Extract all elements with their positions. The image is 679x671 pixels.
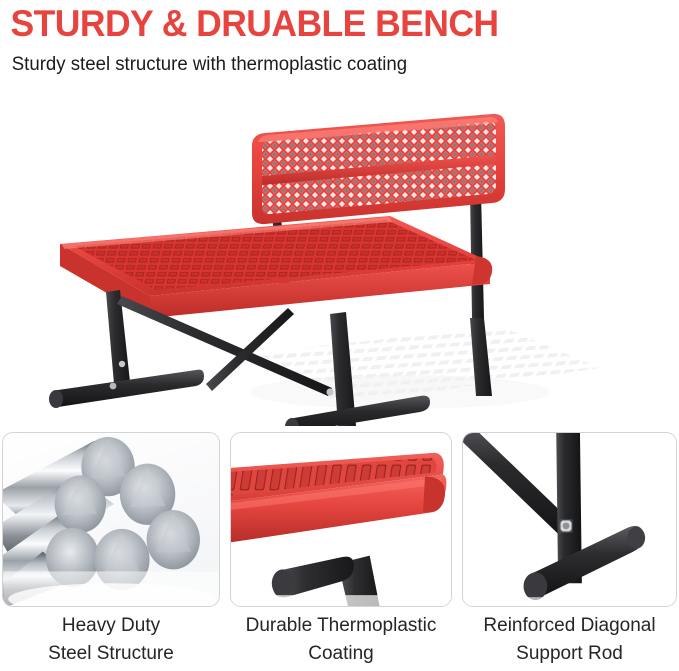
panel-support-rod xyxy=(462,432,677,607)
caption-support-rod: Reinforced Diagonal Support Rod xyxy=(460,612,679,668)
panel-captions: Heavy Duty Steel Structure Durable Therm… xyxy=(0,612,679,671)
header: STURDY & DRUABLE BENCH Sturdy steel stru… xyxy=(0,0,679,77)
caption-thermoplastic-coating: Durable Thermoplastic Coating xyxy=(228,612,454,668)
panel-steel-rods xyxy=(2,432,220,607)
feature-panels xyxy=(0,432,679,607)
page-title: STURDY & DRUABLE BENCH xyxy=(0,0,652,44)
caption-line-1: Reinforced Diagonal xyxy=(483,615,655,636)
support-rod-joint-image xyxy=(463,433,676,606)
page-subtitle: Sturdy steel structure with thermoplasti… xyxy=(0,44,665,77)
caption-line-1: Durable Thermoplastic xyxy=(246,615,437,636)
hero-product-image xyxy=(0,96,679,426)
caption-line-2: Coating xyxy=(228,640,454,668)
caption-line-1: Heavy Duty xyxy=(62,615,160,636)
coated-mesh-closeup-image xyxy=(231,433,451,606)
caption-line-2: Support Rod xyxy=(460,640,679,668)
bolt xyxy=(560,520,573,533)
stacked-steel-rods-image xyxy=(3,433,219,606)
bench-illustration xyxy=(0,96,679,426)
caption-steel-structure: Heavy Duty Steel Structure xyxy=(2,612,220,668)
panel-thermoplastic-coating xyxy=(230,432,452,607)
caption-line-2: Steel Structure xyxy=(2,640,220,668)
product-infographic: STURDY & DRUABLE BENCH Sturdy steel stru… xyxy=(0,0,679,671)
